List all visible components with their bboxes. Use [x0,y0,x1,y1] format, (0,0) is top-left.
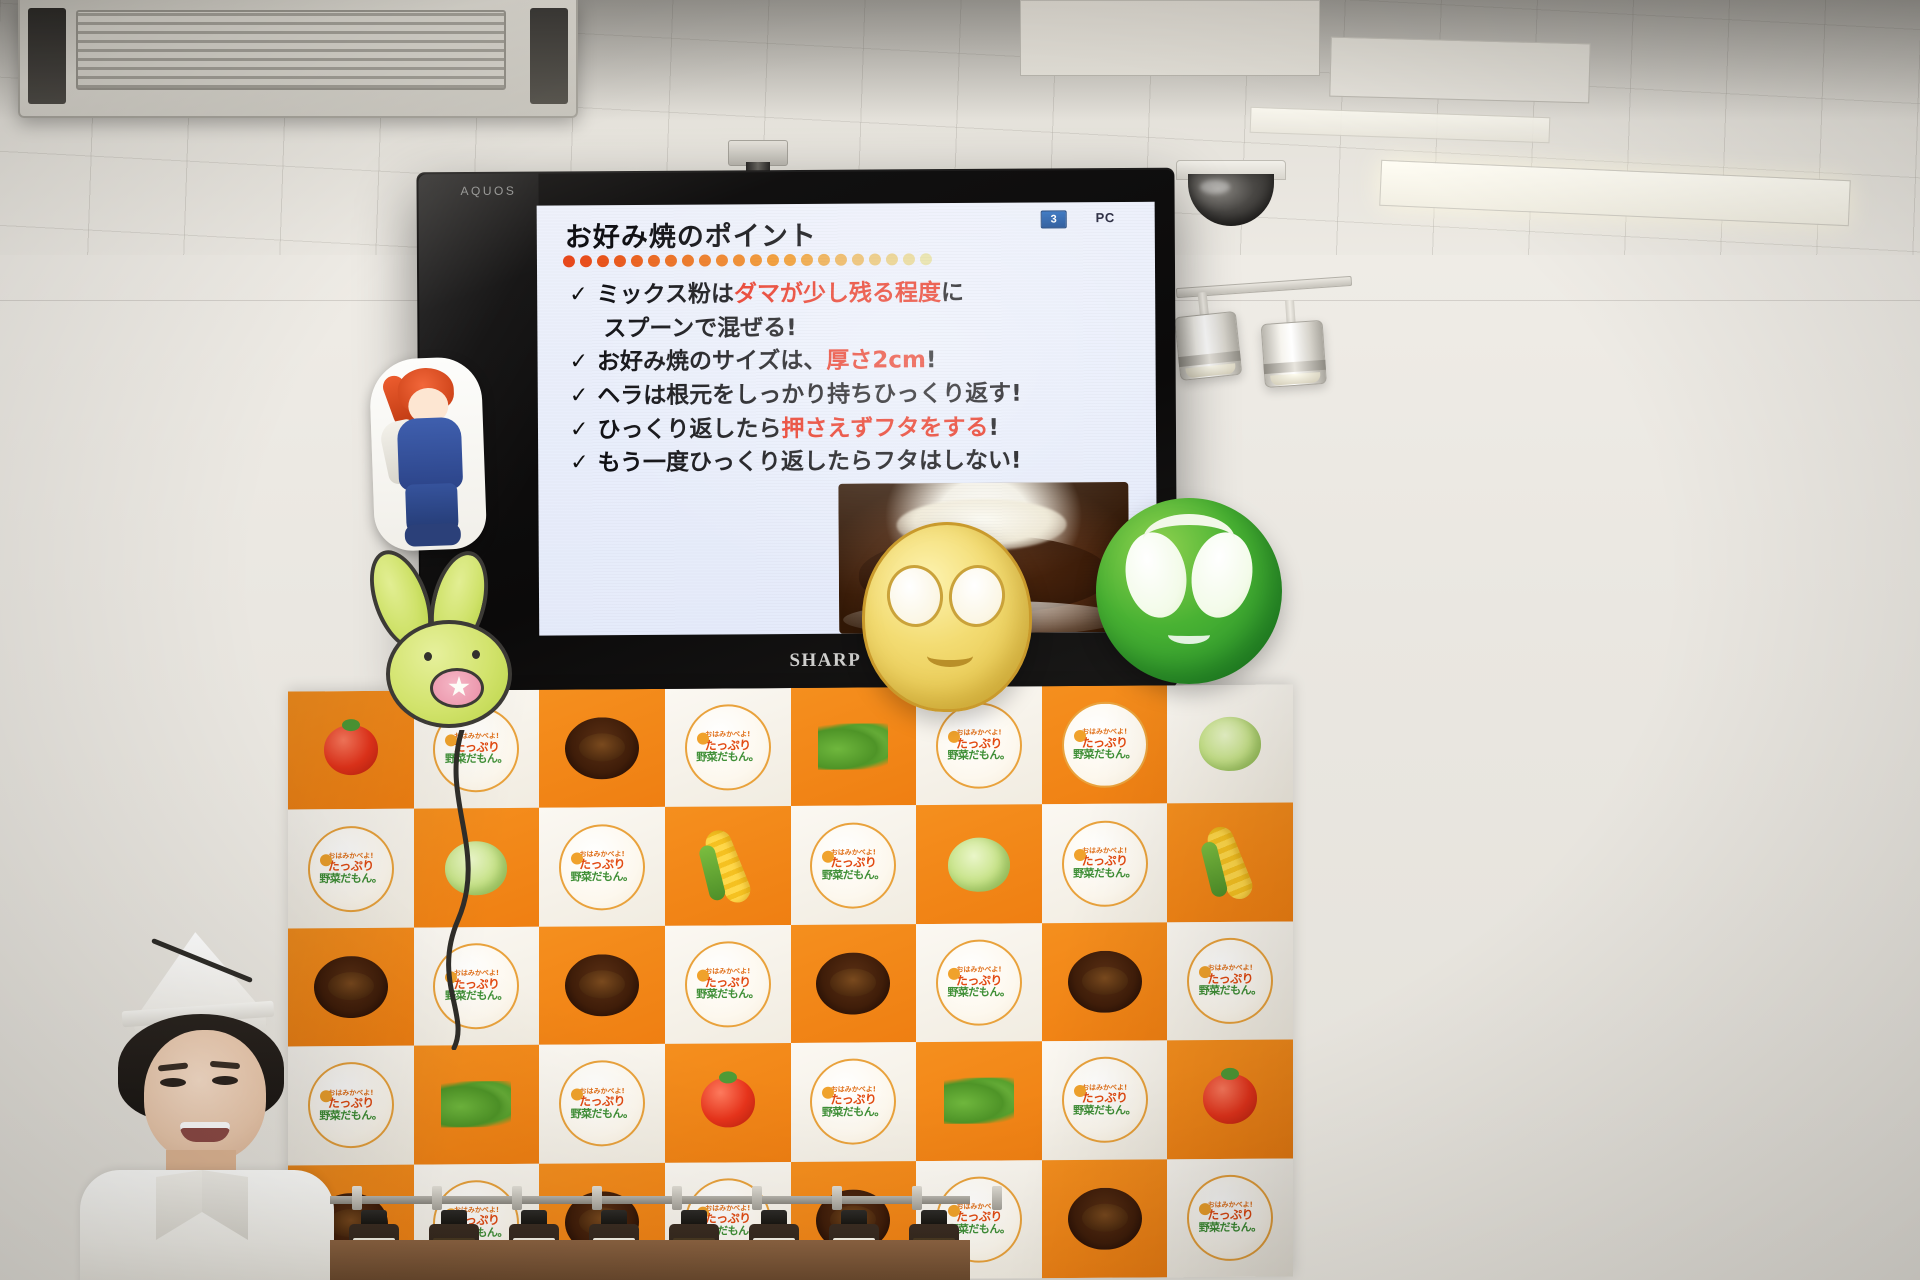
banner-tile [1042,1159,1168,1278]
divider-dot [869,253,881,265]
sharp-aquos-television: AQUOS SHARP お好み焼のポイント ✓ミックス粉はダマが少し残る程度にス… [416,168,1177,693]
banner-logo-line3: 野菜だもん。 [822,869,885,881]
divider-dot [631,255,643,267]
divider-dot [648,255,660,267]
banner-logo-dot [822,850,834,862]
banner-logo-roundel: おはみかべよ!たっぷり野菜だもん。 [810,822,896,909]
banner-motif-cabbage [445,841,507,895]
slide-text-segment: ダマが少し残る程度 [734,280,941,307]
sticker-body [397,417,463,491]
divider-dot [563,255,575,267]
banner-tile: おはみかべよ!たっぷり野菜だもん。 [665,688,791,807]
ceiling-panel [1329,37,1590,104]
banner-motif-cabbage [948,837,1010,891]
ac-vent [28,8,66,104]
banner-logo-roundel: おはみかべよ!たっぷり野菜だもん。 [559,1060,645,1147]
slide-text-segment: 押さえずフタをする [781,414,988,441]
banner-logo-roundel: おはみかべよ!たっぷり野菜だもん。 [936,939,1022,1026]
banner-logo-line3: 野菜だもん。 [947,750,1010,762]
banner-logo-roundel: おはみかべよ!たっぷり野菜だもん。 [936,703,1022,790]
banner-logo-dot [1074,730,1086,742]
banner-logo-roundel: おはみかべよ!たっぷり野菜だもん。 [810,1059,896,1146]
banner-logo-dot [1074,1085,1086,1097]
checkmark-icon: ✓ [569,279,588,310]
banner-logo-roundel: おはみかべよ!たっぷり野菜だもん。 [685,941,771,1028]
banner-motif-dish [565,717,639,780]
divider-dot [784,254,796,266]
anime-girl-sticker [369,356,488,552]
divider-dot [886,253,898,265]
banner-motif-greens [441,1081,511,1127]
banner-motif-cabbage [1199,717,1261,771]
chef-eye-left [160,1078,186,1087]
table-clip [832,1186,842,1210]
chef-eyebrow-right [210,1061,240,1070]
banner-logo-line3: 野菜だもん。 [696,988,759,1000]
banner-tile [665,1043,791,1162]
slide-text-segment: ヘラは根元をしっかり持ちひっくり返す! [597,381,1022,410]
table-clip [752,1186,762,1210]
slide-bullet-line: ✓ひっくり返したら押さえずフタをする! [570,410,1146,446]
banner-tile: おはみかべよ!たっぷり野菜だもん。 [539,807,665,926]
banner-motif-corn [701,826,754,906]
banner-logo-roundel: おはみかべよ!たっぷり野菜だもん。 [1187,938,1273,1025]
chef-mouth [180,1122,230,1142]
banner-motif-corn [1204,822,1257,902]
slide-dot-divider [563,250,1123,269]
green-ball-mascot [1096,498,1282,684]
slide-text-segment: スプーンで混ぜる! [603,315,796,342]
slide-bullet-list: ✓ミックス粉はダマが少し残る程度にスプーンで混ぜる!✓お好み焼のサイズは、厚さ2… [569,276,1146,481]
slide-bullet-line: ✓お好み焼のサイズは、厚さ2cm! [569,343,1145,379]
banner-tile: おはみかべよ!たっぷり野菜だもん。 [539,1044,665,1163]
dome-camera-icon [1176,160,1286,220]
divider-dot [835,254,847,266]
slide-bullet-text: ヘラは根元をしっかり持ちひっくり返す! [597,378,1022,413]
banner-logo-roundel: おはみかべよ!たっぷり野菜だもん。 [1062,1057,1148,1144]
banner-logo-dot [822,1087,834,1099]
chef-presenter [44,932,334,1280]
banner-tile: おはみかべよ!たっぷり野菜だもん。 [1167,921,1293,1040]
banner-tile: おはみかべよ!たっぷり野菜だもん。 [414,927,540,1046]
banner-logo-line3: 野菜だもん。 [1073,1104,1136,1116]
divider-dot [801,254,813,266]
dome-camera-highlight [1200,180,1230,194]
table-clip [592,1186,602,1210]
divider-dot [920,253,932,265]
banner-tile [539,926,665,1045]
slide-title: お好み焼のポイント [565,214,817,255]
banner-motif-greens [944,1078,1014,1124]
ac-grill [76,10,506,90]
ceiling-panel [1020,0,1320,76]
banner-tile: おはみかべよ!たっぷり野菜だもん。 [665,925,791,1044]
ac-vent [530,8,568,104]
slide-bullet-line: ✓もう一度ひっくり返したらフタはしない! [570,444,1146,480]
sticker-boots [404,523,461,547]
divider-dot [614,255,626,267]
banner-logo-line3: 野菜だもん。 [445,753,508,765]
divider-dot [665,255,677,267]
dome-camera-bulb [1188,174,1274,226]
yellow-egg-mascot [862,522,1032,712]
chef-eye-right [212,1076,238,1085]
slide-bullet-text: もう一度ひっくり返したらフタはしない! [598,445,1022,480]
banner-tile: おはみかべよ!たっぷり野菜だもん。 [1042,804,1168,923]
green-mouth [1168,626,1210,644]
banner-logo-line3: 野菜だもん。 [1073,749,1136,761]
banner-motif-dish [1068,1187,1142,1250]
banner-logo-dot [1074,849,1086,861]
banner-logo-dot [571,1089,583,1101]
input-badge: 3 [1041,210,1067,228]
banner-motif-greens [818,724,888,770]
slide-text-segment: ひっくり返したら [597,416,781,443]
slide-bullet-line: ✓ヘラは根元をしっかり持ちひっくり返す! [570,377,1146,413]
banner-motif-dish [565,954,639,1017]
banner-tile: おはみかべよ!たっぷり野菜だもん。 [1042,1041,1168,1160]
banner-logo-roundel: おはみかべよ!たっぷり野菜だもん。 [1187,1174,1273,1261]
ceiling-air-conditioner [18,0,578,118]
egg-eye-right [945,561,1009,630]
banner-logo-dot [948,968,960,980]
banner-logo-line3: 野菜だもん。 [445,990,508,1002]
banner-logo-dot [320,854,332,866]
checkmark-icon: ✓ [570,448,589,479]
slide-bullet-text: ひっくり返したら押さえずフタをする! [597,411,999,446]
banner-tile [1167,803,1293,922]
banner-tile [414,1045,540,1164]
banner-tile [1167,684,1293,803]
banner-tile [791,924,917,1043]
slide-text-segment: もう一度ひっくり返したらフタはしない! [598,448,1022,477]
banner-motif-dish [816,952,890,1015]
table-clip [432,1186,442,1210]
banner-tile: おはみかべよ!たっぷり野菜だもん。 [916,923,1042,1042]
banner-logo-roundel: おはみかべよ!たっぷり野菜だもん。 [433,943,519,1030]
banner-logo-dot [1199,1203,1211,1215]
banner-tile [791,687,917,806]
banner-tile [916,1041,1042,1160]
chef-face [144,1030,266,1162]
green-brow [1143,514,1235,566]
slide-bullet-line: ✓ミックス粉はダマが少し残る程度に [569,276,1145,312]
table-clip [352,1186,362,1210]
banner-tile: おはみかべよ!たっぷり野菜だもん。 [1167,1158,1293,1277]
checkmark-icon: ✓ [570,380,589,411]
table-clip [512,1186,522,1210]
divider-dot [682,255,694,267]
banner-logo-line3: 野菜だもん。 [1199,985,1262,997]
banner-tile: おはみかべよ!たっぷり野菜だもん。 [791,1042,917,1161]
egg-mouth [927,645,973,667]
banner-tile [1167,1040,1293,1159]
slide-bullet-line: スプーンで混ぜる! [569,310,1145,346]
banner-logo-roundel: おはみかべよ!たっぷり野菜だもん。 [559,824,645,911]
banner-logo-roundel: おはみかべよ!たっぷり野菜だもん。 [1062,820,1148,907]
divider-dot [852,254,864,266]
banner-logo-line3: 野菜だもん。 [319,873,382,885]
slide-bullet-text: スプーンで混ぜる! [603,312,797,346]
ceiling-spotlight [1172,289,1243,381]
table-clip [992,1186,1002,1210]
demo-table-edge [330,1240,970,1280]
banner-logo-line3: 野菜だもん。 [571,871,634,883]
input-source-label: PC [1096,210,1115,225]
banner-logo-dot [571,852,583,864]
banner-logo-roundel: おはみかべよ!たっぷり野菜だもん。 [1062,702,1148,789]
banner-logo-roundel: おはみかべよ!たっぷり野菜だもん。 [308,825,394,912]
chef-eyebrow-left [158,1062,188,1071]
banner-logo-line3: 野菜だもん。 [1073,867,1136,879]
banner-logo-dot [445,971,457,983]
banner-motif-tomato [701,1078,755,1128]
divider-dot [716,254,728,266]
slide-text-segment: ! [988,414,999,440]
banner-logo-line3: 野菜だもん。 [696,752,759,764]
banner-motif-tomato [1203,1074,1257,1124]
banner-logo-dot [697,970,709,982]
slide-bullet-text: ミックス粉はダマが少し残る程度に [597,277,965,312]
slide-text-segment: 厚さ2cm [826,348,926,375]
rabbit-head [386,620,512,728]
banner-tile: おはみかべよ!たっぷり野菜だもん。 [1042,685,1168,804]
slide-text-segment: ! [926,347,937,373]
banner-logo-line3: 野菜だもん。 [822,1106,885,1118]
divider-dot [733,254,745,266]
slide-text-segment: お好み焼のサイズは、 [597,348,826,375]
rabbit-eye-left [424,652,432,661]
scene-root: AQUOS SHARP お好み焼のポイント ✓ミックス粉はダマが少し残る程度にス… [0,0,1920,1280]
banner-logo-line3: 野菜だもん。 [947,987,1010,999]
table-clip-rail [330,1196,970,1204]
ceiling-spotlight [1259,298,1327,388]
banner-logo-dot [1199,966,1211,978]
presentation-screen[interactable]: お好み焼のポイント ✓ミックス粉はダマが少し残る程度にスプーンで混ぜる!✓お好み… [537,202,1158,636]
divider-dot [903,253,915,265]
banner-logo-dot [697,733,709,745]
table-clip [912,1186,922,1210]
tv-brand-sharp: SHARP [789,650,861,672]
banner-logo-line3: 野菜だもん。 [571,1108,634,1120]
divider-dot [767,254,779,266]
banner-tile [665,806,791,925]
banner-tile [539,689,665,808]
banner-tile [916,805,1042,924]
banner-logo-line3: 野菜だもん。 [1199,1222,1262,1234]
egg-eye-left [883,561,947,630]
divider-dot [580,255,592,267]
table-clip [672,1186,682,1210]
banner-tile: おはみかべよ!たっぷり野菜だもん。 [791,806,917,925]
slide-text-segment: ミックス粉は [597,281,734,308]
divider-dot [818,254,830,266]
divider-dot [699,255,711,267]
divider-dot [597,255,609,267]
slide-bullet-text: お好み焼のサイズは、厚さ2cm! [597,344,937,379]
checkmark-icon: ✓ [569,347,588,378]
green-rabbit-balloon-mascot [370,548,530,738]
banner-motif-dish [1068,951,1142,1014]
banner-tile [1042,922,1168,1041]
rabbit-eye-right [472,650,480,659]
banner-logo-dot [948,731,960,743]
checkmark-icon: ✓ [570,414,589,445]
divider-dot [750,254,762,266]
banner-tile [414,808,540,927]
slide-text-segment: に [941,280,964,306]
tv-brand-aquos: AQUOS [460,184,516,198]
banner-logo-roundel: おはみかべよ!たっぷり野菜だもん。 [685,704,771,791]
banner-tile: おはみかべよ!たっぷり野菜だもん。 [288,809,414,928]
